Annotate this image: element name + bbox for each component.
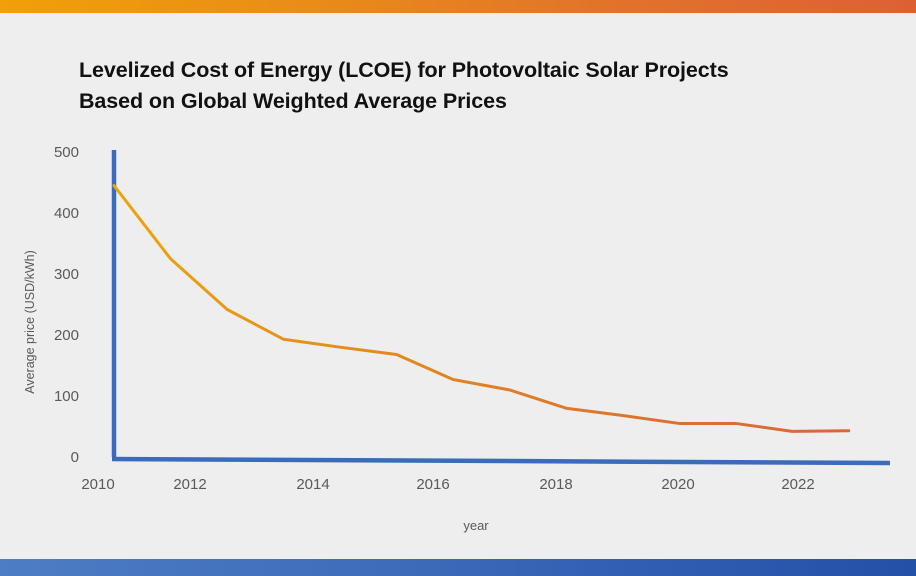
x-axis-title: year bbox=[396, 518, 556, 533]
y-tick-400: 400 bbox=[23, 205, 79, 222]
x-axis-line bbox=[112, 459, 890, 463]
y-tick-500: 500 bbox=[23, 144, 79, 161]
chart-plot-area: 500 400 300 200 100 0 2010 2012 2014 201… bbox=[0, 0, 916, 576]
x-tick-2020: 2020 bbox=[638, 476, 718, 493]
x-tick-2014: 2014 bbox=[273, 476, 353, 493]
x-tick-2010: 2010 bbox=[58, 476, 138, 493]
x-tick-2012: 2012 bbox=[150, 476, 230, 493]
data-series-line bbox=[114, 186, 849, 432]
y-axis-title: Average price (USD/kWh) bbox=[23, 237, 37, 407]
x-tick-2016: 2016 bbox=[393, 476, 473, 493]
y-tick-0: 0 bbox=[23, 449, 79, 466]
bottom-accent-bar bbox=[0, 559, 916, 576]
x-tick-2018: 2018 bbox=[516, 476, 596, 493]
x-tick-2022: 2022 bbox=[758, 476, 838, 493]
